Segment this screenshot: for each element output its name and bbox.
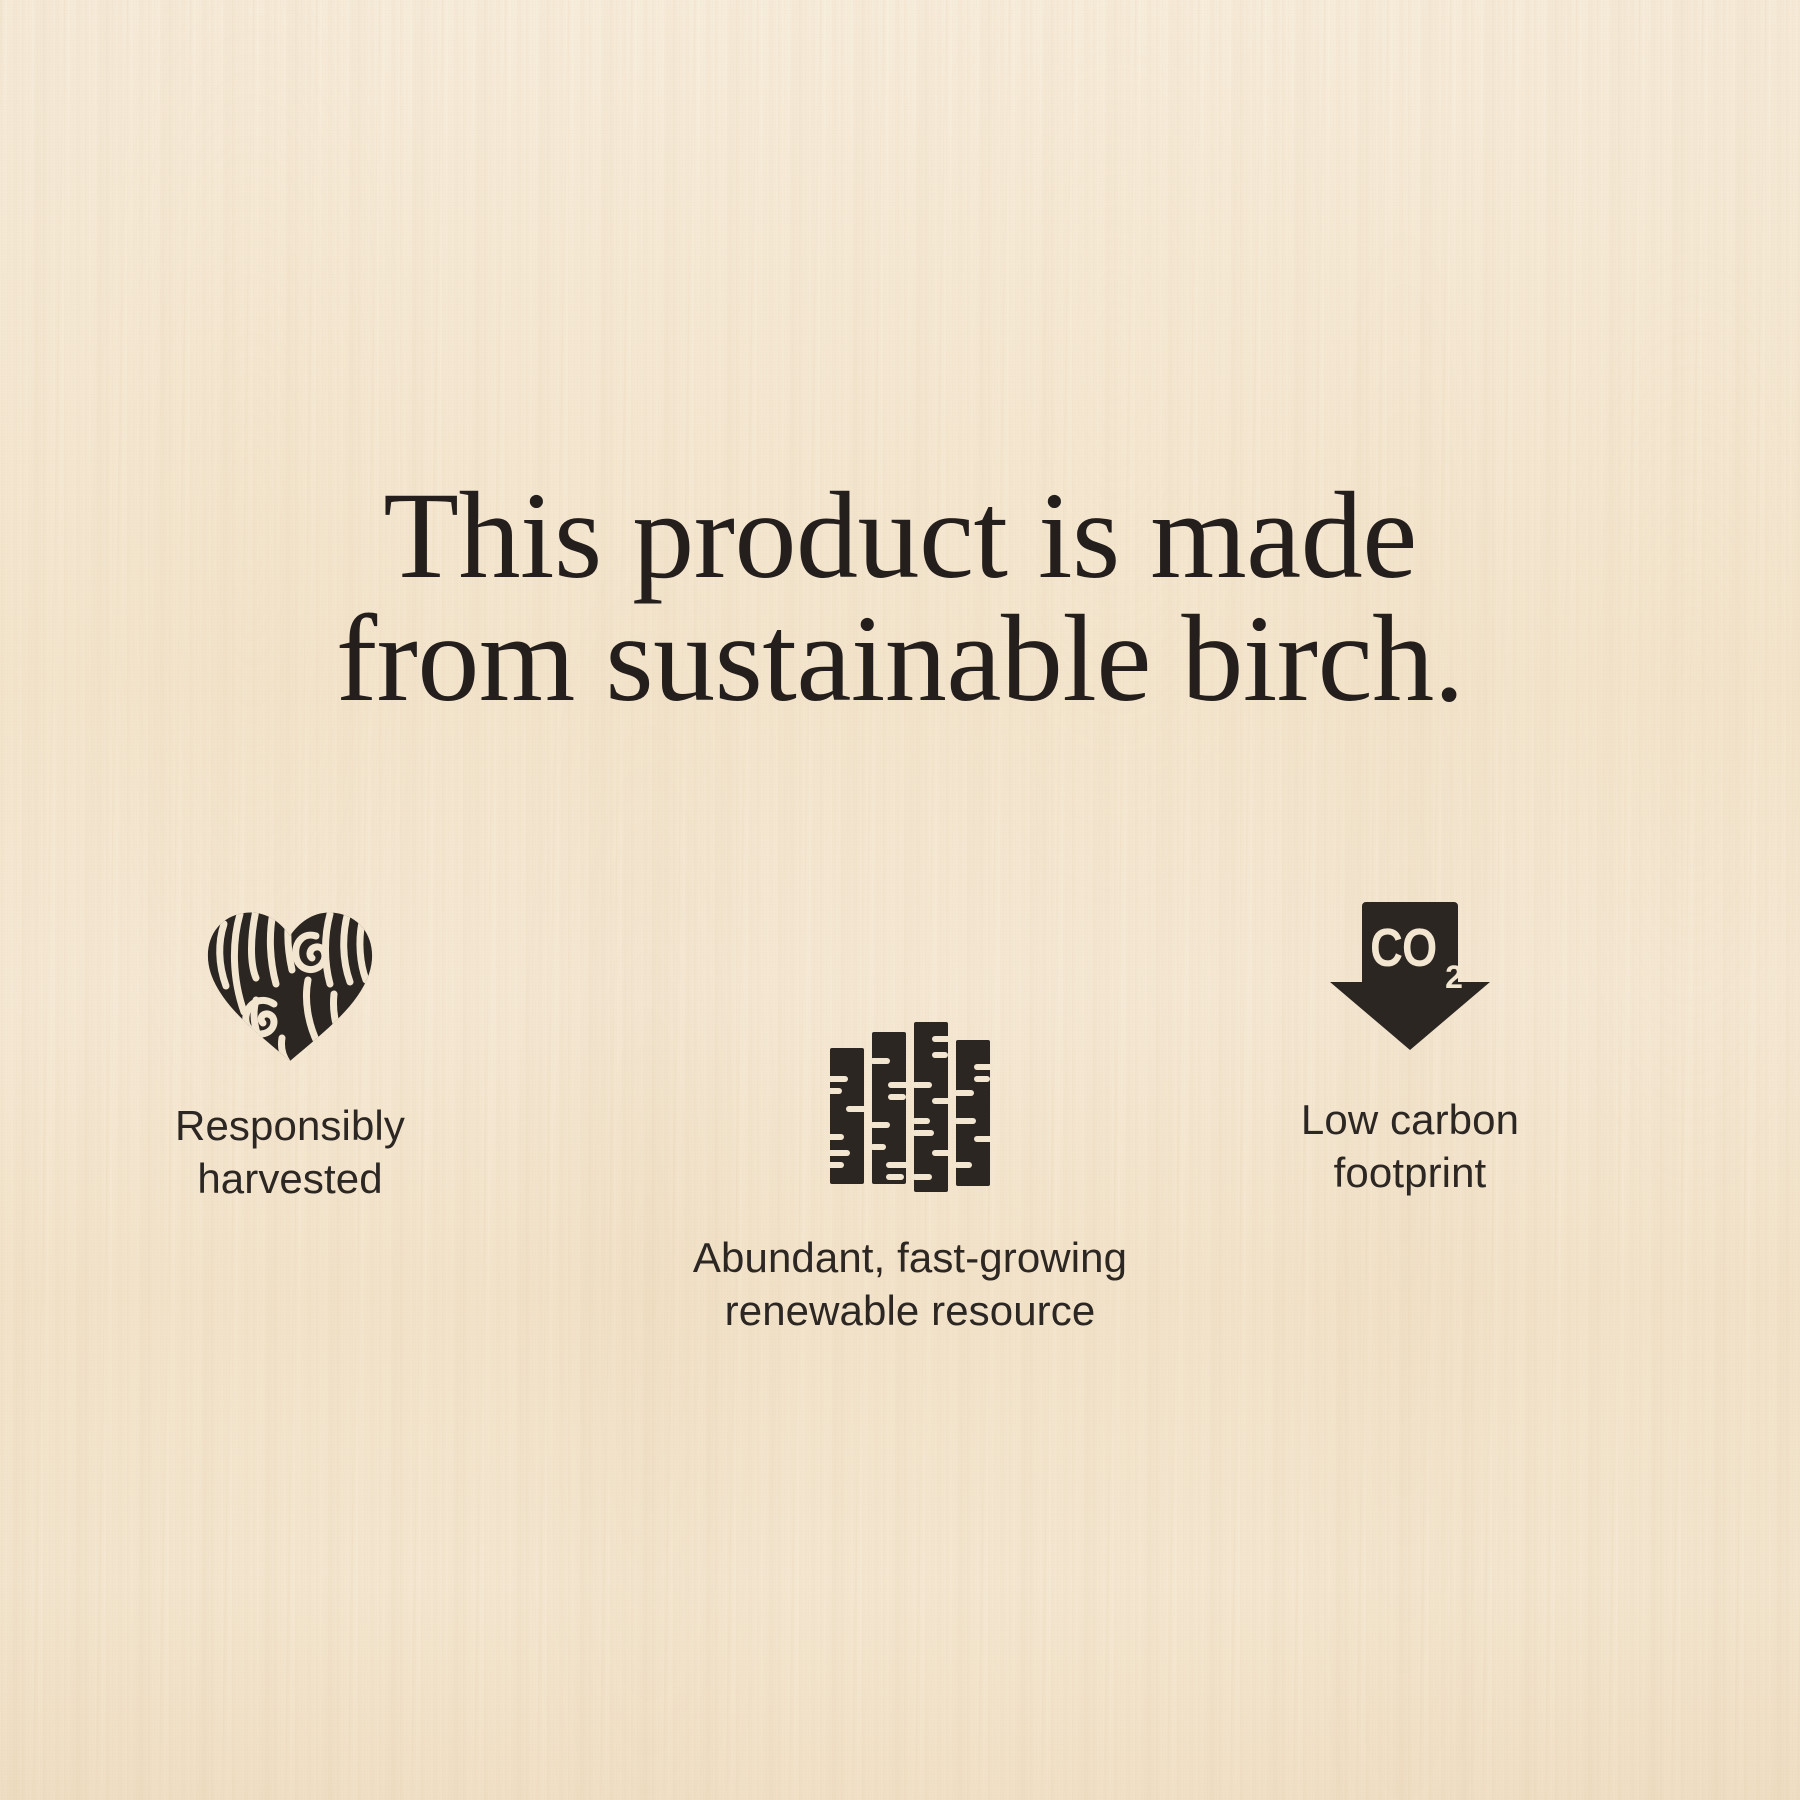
sustainability-birch-panel: This product is made from sustainable bi… (0, 0, 1800, 1800)
co2-icon-subscript: 2 (1445, 959, 1463, 995)
feature-label: Abundant, fast-growing renewable resourc… (560, 1232, 1260, 1338)
wood-grain-heart-icon (204, 908, 376, 1064)
feature-list: Responsibly harvested (0, 900, 1800, 1360)
feature-label: Low carbon footprint (1100, 1094, 1720, 1200)
co2-icon-text: CO (1370, 917, 1436, 978)
birch-trunks-icon (826, 1022, 994, 1192)
feature-label: Responsibly harvested (80, 1100, 500, 1206)
co2-down-arrow-icon: CO 2 (1326, 900, 1494, 1052)
page-title: This product is made from sustainable bi… (0, 475, 1800, 721)
feature-low-carbon-footprint: CO 2 Low carbon footprint (1100, 900, 1720, 1200)
headline-line-1: This product is made (140, 475, 1660, 598)
feature-responsibly-harvested: Responsibly harvested (80, 908, 500, 1206)
headline-line-2: from sustainable birch. (140, 598, 1660, 721)
